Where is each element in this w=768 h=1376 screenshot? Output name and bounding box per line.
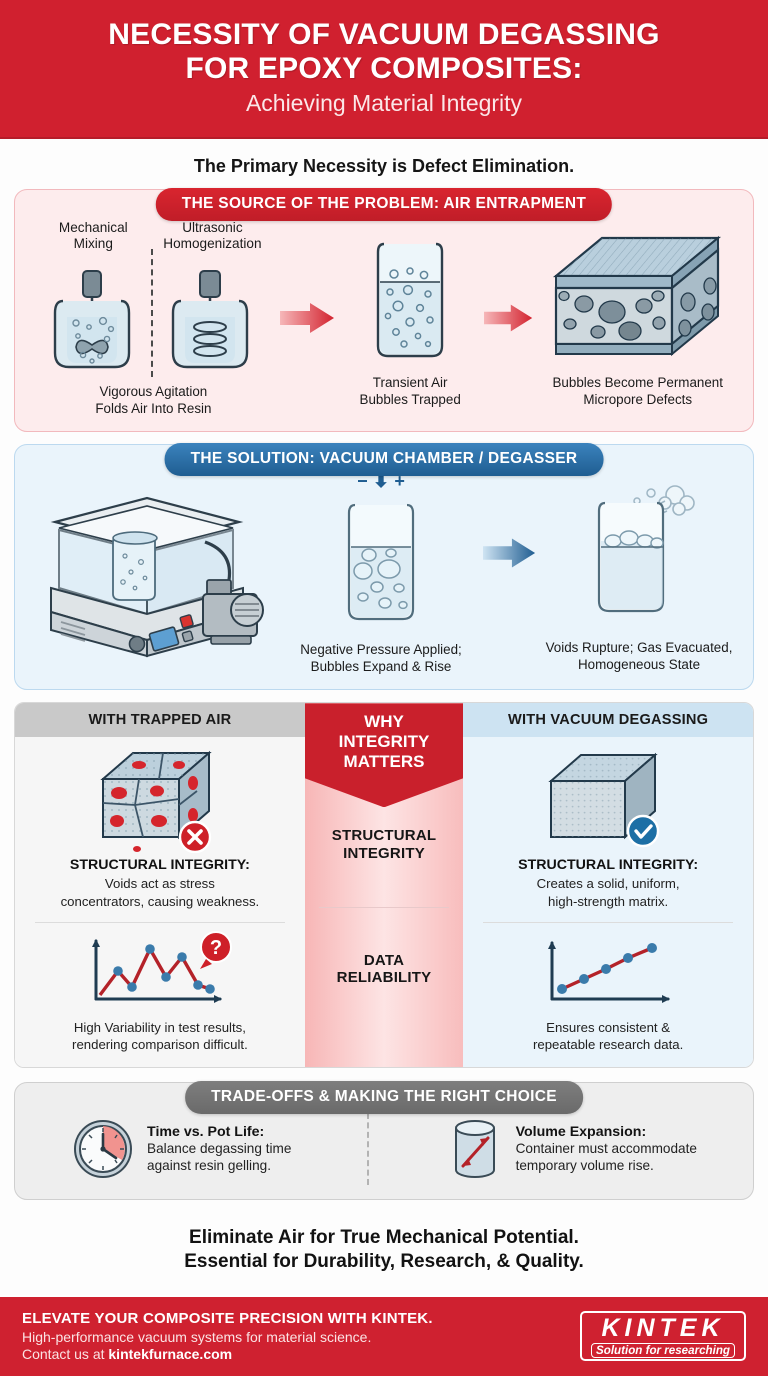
section-problem-panel: Mechanical Mixing — [14, 189, 754, 432]
right-data-block: Ensures consistent & repeatable research… — [477, 929, 739, 1053]
comparison-right-header: WITH VACUUM DEGASSING — [463, 703, 753, 737]
section-problem-badge: THE SOURCE OF THE PROBLEM: AIR ENTRAPMEN… — [156, 188, 612, 221]
tradeoffs-divider — [367, 1113, 369, 1185]
section-tradeoffs: TRADE-OFFS & MAKING THE RIGHT CHOICE — [14, 1082, 754, 1200]
comparison-center-column: WHY INTEGRITY MATTERS STRUCTURAL INTEGRI… — [305, 703, 463, 1067]
tradeoff-item-volume-text: Volume Expansion: Container must accommo… — [516, 1124, 697, 1175]
title-line-1: NECESSITY OF VACUUM DEGASSING — [108, 18, 659, 51]
arrow-right-icon-1 — [280, 301, 336, 335]
cylinder-expansion-icon — [446, 1116, 504, 1182]
clock-icon — [71, 1117, 135, 1181]
arrow-right-icon-3 — [483, 536, 537, 570]
center-label-structural: STRUCTURAL INTEGRITY — [305, 827, 463, 862]
vacuum-chamber-machine-icon — [29, 484, 279, 662]
comparison-left-column: WITH TRAPPED AIR — [15, 703, 305, 1067]
problem-flow: Mechanical Mixing — [29, 220, 739, 417]
section-problem: THE SOURCE OF THE PROBLEM: AIR ENTRAPMEN… — [14, 189, 754, 432]
left-data-text: High Variability in test results, render… — [29, 1019, 291, 1053]
footer-text: ELEVATE YOUR COMPOSITE PRECISION WITH KI… — [22, 1310, 433, 1362]
problem-step-2-caption: Transient Air Bubbles Trapped — [338, 374, 483, 408]
left-structural-block: STRUCTURAL INTEGRITY: Voids act as stres… — [29, 745, 291, 909]
why-integrity-matters-banner: WHY INTEGRITY MATTERS — [305, 703, 463, 807]
tradeoff-item-time-title: Time vs. Pot Life: — [147, 1124, 291, 1140]
kintek-logo: KINTEK Solution for researching — [580, 1311, 746, 1361]
tagline: The Primary Necessity is Defect Eliminat… — [0, 139, 768, 189]
left-data-block: ? High Variability in test results, rend… — [29, 929, 291, 1053]
mechanical-mixer-icon — [45, 257, 141, 377]
footer-subline: High-performance vacuum systems for mate… — [22, 1329, 433, 1345]
right-divider — [483, 922, 733, 923]
section-solution: THE SOLUTION: VACUUM CHAMBER / DEGASSER — [14, 444, 754, 690]
solid-uniform-cube-icon — [523, 745, 693, 853]
tradeoff-item-volume-desc: Container must accommodate temporary vol… — [516, 1140, 697, 1175]
problem-step-3-caption: Bubbles Become Permanent Micropore Defec… — [536, 374, 739, 408]
tradeoff-item-time-text: Time vs. Pot Life: Balance degassing tim… — [147, 1124, 291, 1175]
solution-step-2: − ⬇ + — [281, 471, 481, 675]
right-data-text: Ensures consistent & repeatable research… — [477, 1019, 739, 1053]
beaker-gas-escaping-icon — [571, 473, 707, 633]
solution-step-3: Voids Rupture; Gas Evacuated, Homogeneou… — [539, 473, 739, 673]
question-mark-icon: ? — [200, 932, 231, 969]
footer-contact: Contact us at kintekfurnace.com — [22, 1346, 433, 1362]
problem-step-1: Mechanical Mixing — [29, 220, 278, 417]
problem-step-3: Bubbles Become Permanent Micropore Defec… — [536, 228, 739, 408]
left-divider — [35, 922, 285, 923]
footer-contact-prefix: Contact us at — [22, 1346, 108, 1362]
variability-chart-icon: ? — [70, 929, 250, 1015]
center-label-data: DATA RELIABILITY — [305, 952, 463, 987]
right-structural-text: Creates a solid, uniform, high-strength … — [477, 875, 739, 909]
solution-step-3-caption: Voids Rupture; Gas Evacuated, Homogeneou… — [539, 639, 739, 673]
center-divider — [319, 907, 449, 908]
right-structural-block: STRUCTURAL INTEGRITY: Creates a solid, u… — [477, 745, 739, 909]
kintek-logo-tagline: Solution for researching — [591, 1343, 735, 1358]
title-line-2: FOR EPOXY COMPOSITES: — [185, 52, 582, 85]
page-title: NECESSITY OF VACUUM DEGASSING FOR EPOXY … — [24, 18, 744, 85]
section-comparison: WITH TRAPPED AIR — [14, 702, 754, 1068]
closing-line-1: Eliminate Air for True Mechanical Potent… — [10, 1226, 758, 1250]
left-structural-title: STRUCTURAL INTEGRITY: — [29, 857, 291, 873]
footer-contact-link[interactable]: kintekfurnace.com — [108, 1346, 232, 1362]
tradeoffs-row: Time vs. Pot Life: Balance degassing tim… — [33, 1109, 735, 1187]
closing-statement: Eliminate Air for True Mechanical Potent… — [0, 1212, 768, 1288]
porous-composite-block-icon — [540, 228, 736, 368]
comparison-right-body: STRUCTURAL INTEGRITY: Creates a solid, u… — [463, 737, 753, 1067]
arrow-right-icon-2 — [484, 302, 534, 334]
tradeoff-item-time-desc: Balance degassing time against resin gel… — [147, 1140, 291, 1175]
problem-step-2: Transient Air Bubbles Trapped — [338, 228, 483, 408]
closing-line-2: Essential for Durability, Research, & Qu… — [10, 1250, 758, 1274]
mechanical-mixing-label: Mechanical Mixing — [45, 220, 141, 253]
comparison-right-column: WITH VACUUM DEGASSING STRUCTURAL — [463, 703, 753, 1067]
page-subtitle: Achieving Material Integrity — [24, 90, 744, 116]
right-structural-title: STRUCTURAL INTEGRITY: — [477, 857, 739, 873]
cracked-porous-cube-icon — [75, 745, 245, 853]
section-solution-badge: THE SOLUTION: VACUUM CHAMBER / DEGASSER — [165, 443, 604, 476]
svg-text:?: ? — [210, 937, 222, 959]
tradeoff-item-time: Time vs. Pot Life: Balance degassing tim… — [71, 1117, 291, 1181]
section-tradeoffs-badge: TRADE-OFFS & MAKING THE RIGHT CHOICE — [185, 1081, 583, 1114]
check-mark-icon — [628, 816, 658, 846]
solution-step-2-caption: Negative Pressure Applied; Bubbles Expan… — [281, 641, 481, 675]
tradeoff-item-volume: Volume Expansion: Container must accommo… — [446, 1116, 697, 1182]
solution-step-1 — [29, 484, 279, 662]
page-header: NECESSITY OF VACUUM DEGASSING FOR EPOXY … — [0, 0, 768, 139]
kintek-logo-name: KINTEK — [591, 1315, 735, 1341]
beaker-bubbles-icon — [358, 228, 462, 368]
consistent-trend-chart-icon — [518, 929, 698, 1015]
comparison-left-body: STRUCTURAL INTEGRITY: Voids act as stres… — [15, 737, 305, 1067]
comparison-left-header: WITH TRAPPED AIR — [15, 703, 305, 737]
problem-step-1-caption: Vigorous Agitation Folds Air Into Resin — [29, 383, 278, 417]
ultrasonic-homogenizer-icon — [163, 257, 259, 377]
section-solution-panel: − ⬇ + — [14, 444, 754, 690]
ultrasonic-homogenization-label: Ultrasonic Homogenization — [163, 220, 261, 253]
problem-divider — [151, 249, 153, 377]
page-footer: ELEVATE YOUR COMPOSITE PRECISION WITH KI… — [0, 1295, 768, 1376]
footer-headline: ELEVATE YOUR COMPOSITE PRECISION WITH KI… — [22, 1310, 433, 1327]
beaker-expanding-bubbles-icon — [327, 493, 435, 635]
infographic-page: NECESSITY OF VACUUM DEGASSING FOR EPOXY … — [0, 0, 768, 1376]
solution-flow: − ⬇ + — [29, 471, 739, 675]
tradeoff-item-volume-title: Volume Expansion: — [516, 1124, 697, 1140]
left-structural-text: Voids act as stress concentrators, causi… — [29, 875, 291, 909]
